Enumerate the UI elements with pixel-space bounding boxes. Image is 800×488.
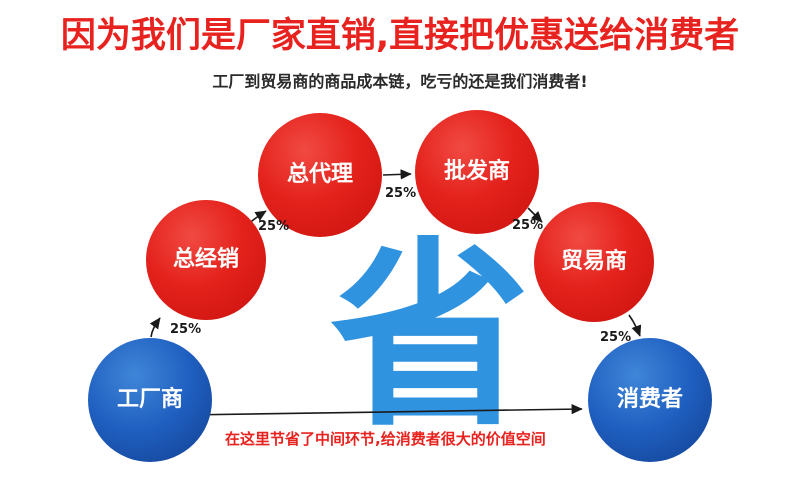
pct-wholesaler-trader: 25% (512, 218, 543, 233)
infographic-canvas: 因为我们是厂家直销,直接把优惠送给消费者 工厂到贸易商的商品成本链，吃亏的还是我… (0, 0, 800, 488)
page-title: 因为我们是厂家直销,直接把优惠送给消费者 (0, 14, 800, 58)
node-label: 贸易商 (561, 249, 627, 274)
node-label: 总代理 (287, 162, 353, 187)
arrow-factory-to-distributor (151, 318, 160, 337)
pct-factory-distributor: 25% (170, 322, 201, 337)
pct-agent-wholesaler: 25% (385, 186, 416, 201)
pct-distributor-agent: 25% (258, 219, 289, 234)
node-label: 消费者 (617, 387, 683, 412)
pct-trader-consumer: 25% (600, 330, 631, 345)
node-label: 总经销 (173, 247, 239, 272)
node-distributor: 总经销 (146, 200, 266, 320)
watermark-character: 省 (330, 243, 500, 443)
bottom-caption: 在这里节省了中间环节,给消费者很大的价值空间 (225, 428, 546, 449)
page-subtitle: 工厂到贸易商的商品成本链，吃亏的还是我们消费者! (0, 70, 800, 94)
node-trader: 贸易商 (534, 202, 654, 322)
node-label: 批发商 (444, 159, 510, 184)
node-wholesaler: 批发商 (415, 110, 539, 234)
node-consumer: 消费者 (588, 338, 712, 462)
node-factory: 工厂商 (88, 338, 212, 462)
node-label: 工厂商 (117, 387, 183, 412)
arrow-agent-to-wholesaler (383, 174, 411, 175)
